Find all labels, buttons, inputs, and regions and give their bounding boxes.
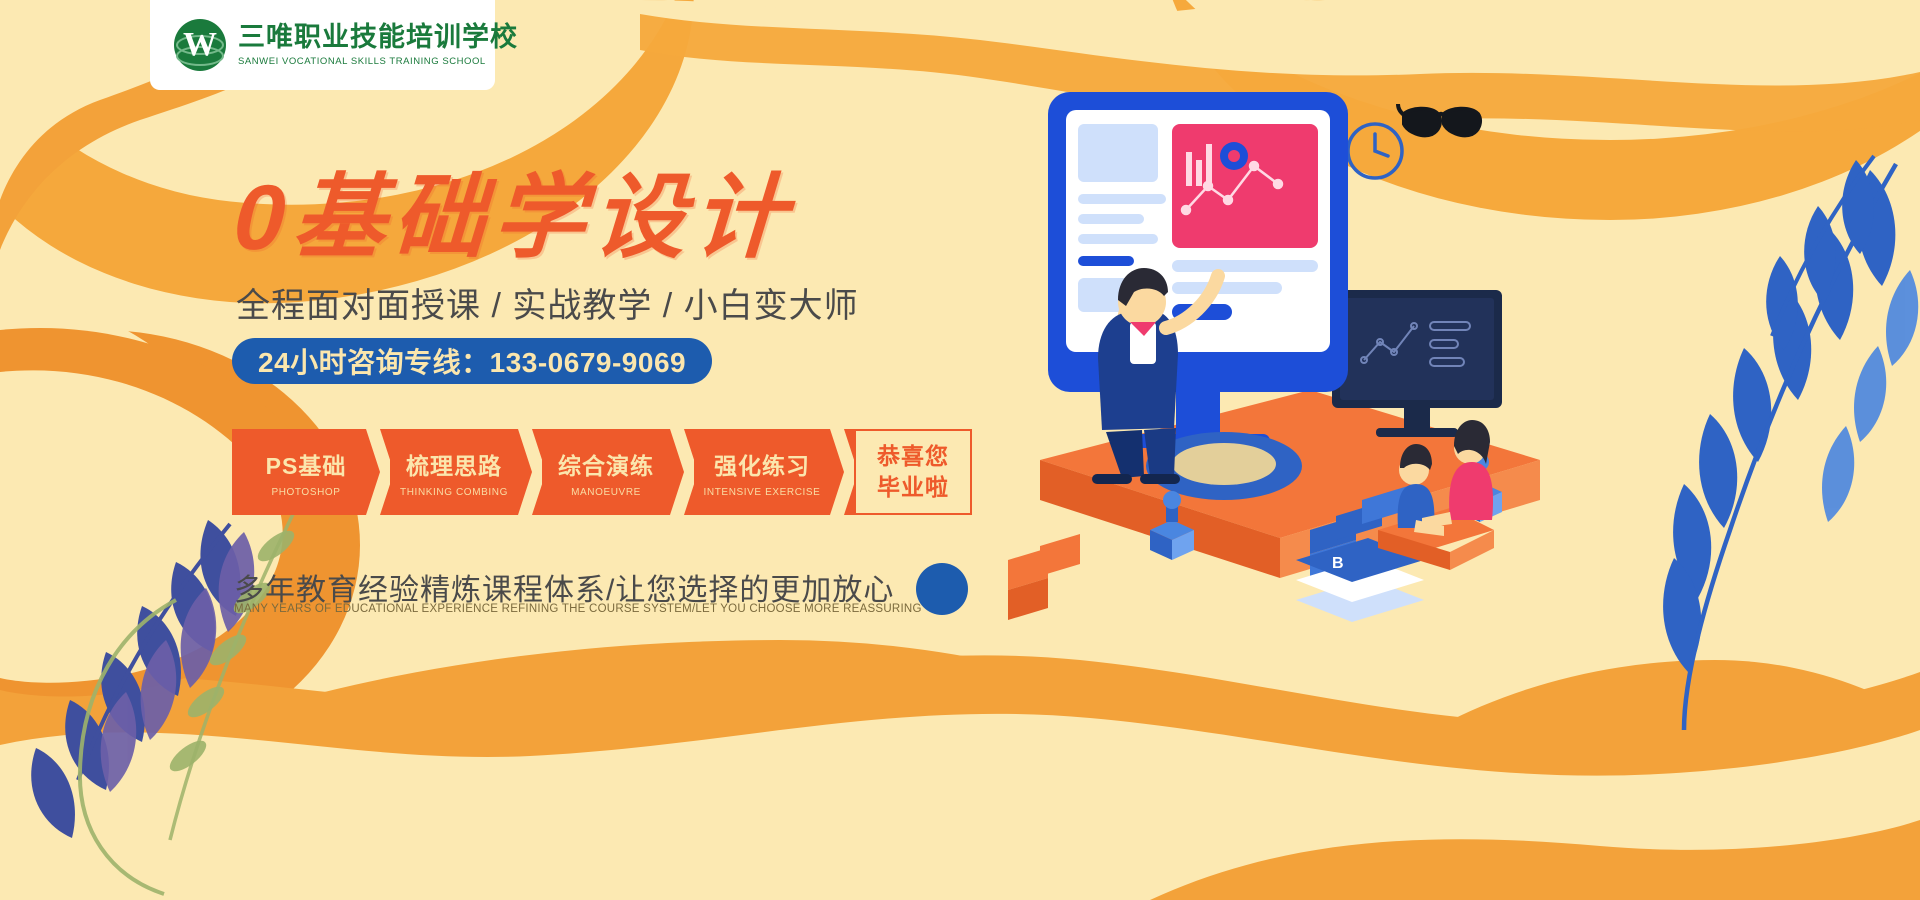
consult-hotline-button[interactable]: 24小时咨询专线：133-0679-9069 [232,338,712,384]
step-label-en: MANOEUVRE [571,487,641,498]
page-title: 0基础学设计 [232,172,796,264]
step-label-en: THINKING COMBING [400,487,508,498]
step-label-cn: 强化练习 [714,447,810,481]
decorative-dot-blue [916,563,968,615]
chevron-right-icon [670,429,694,515]
step-label-en: INTENSIVE EXERCISE [704,487,821,498]
step-item[interactable]: PS基础 PHOTOSHOP [232,429,366,515]
step-item[interactable]: 强化练习 INTENSIVE EXERCISE [694,429,830,515]
red-steps-shape [1008,534,1080,620]
hero-illustration: B [980,60,1680,680]
logo-letter: W [183,28,217,62]
graduation-line-2: 毕业啦 [877,472,949,503]
brand-logo-text: 三唯职业技能培训学校 SANWEI VOCATIONAL SKILLS TRAI… [238,23,518,67]
chevron-right-icon [366,429,390,515]
step-label-cn: 综合演练 [558,447,654,481]
consult-hotline-label: 24小时咨询专线：133-0679-9069 [258,341,686,381]
step-graduation[interactable]: 恭喜您 毕业啦 [854,429,972,515]
logo-mark-icon: W [174,19,226,71]
chevron-right-icon [830,429,854,515]
foliage-top-right-icon [1706,150,1896,360]
rug-inner [1172,443,1276,485]
foliage-left-icon [0,480,430,900]
step-item[interactable]: 综合演练 MANOEUVRE [542,429,670,515]
step-item[interactable]: 梳理思路 THINKING COMBING [390,429,518,515]
brand-name-en: SANWEI VOCATIONAL SKILLS TRAINING SCHOOL [238,56,518,67]
step-label-cn: 梳理思路 [406,447,502,481]
step-label-cn: PS基础 [266,447,347,481]
tagline-en: MANY YEARS OF EDUCATIONAL EXPERIENCE REF… [234,603,922,615]
graduation-line-1: 恭喜您 [877,441,949,472]
promo-banner: W 三唯职业技能培训学校 SANWEI VOCATIONAL SKILLS TR… [0,0,1920,900]
brand-name-cn: 三唯职业技能培训学校 [238,23,518,53]
chevron-right-icon [518,429,542,515]
course-steps: PS基础 PHOTOSHOP 梳理思路 THINKING COMBING 综合演… [232,429,972,515]
svg-text:B: B [1332,555,1344,572]
hero-subtitle: 全程面对面授课 / 实战教学 / 小白变大师 [236,278,859,327]
step-label-en: PHOTOSHOP [271,487,340,498]
brand-logo-card[interactable]: W 三唯职业技能培训学校 SANWEI VOCATIONAL SKILLS TR… [150,0,495,90]
